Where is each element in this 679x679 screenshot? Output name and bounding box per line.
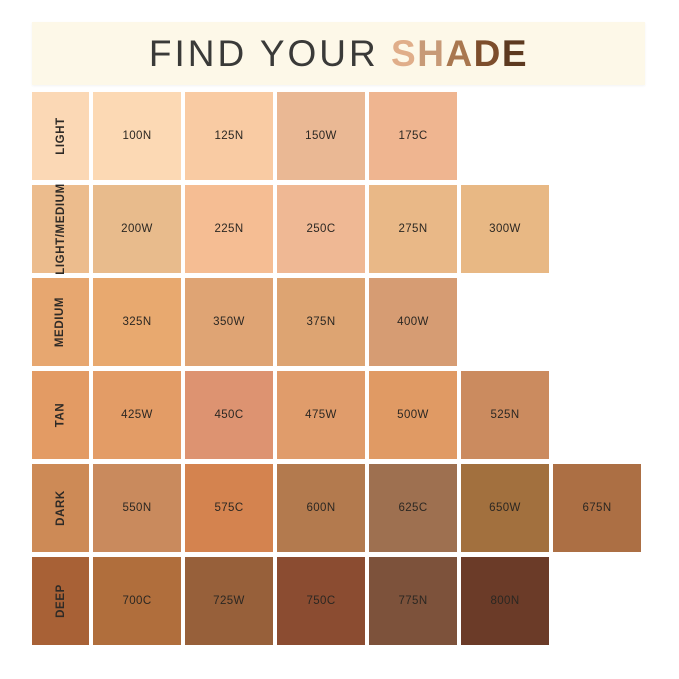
shade-swatch-550N[interactable]: 550N	[93, 464, 181, 552]
shade-row: LIGHT/MEDIUM200W225N250C275N300W	[32, 185, 652, 273]
title-banner: FIND YOUR SHADE	[32, 22, 645, 85]
shade-swatch-350W[interactable]: 350W	[185, 278, 273, 366]
shade-code-label: 675N	[582, 502, 611, 514]
shade-swatch-100N[interactable]: 100N	[93, 92, 181, 180]
shade-code-label: 450C	[214, 409, 243, 421]
shade-swatch-775N[interactable]: 775N	[369, 557, 457, 645]
row-label-text: DEEP	[55, 584, 67, 618]
shade-swatch-750C[interactable]: 750C	[277, 557, 365, 645]
row-label-cell-deep: DEEP	[32, 557, 89, 645]
shade-swatch-200W[interactable]: 200W	[93, 185, 181, 273]
shade-code-label: 525N	[490, 409, 519, 421]
shade-code-label: 650W	[489, 502, 521, 514]
row-label-cell-medium: MEDIUM	[32, 278, 89, 366]
page-title: FIND YOUR SHADE	[149, 35, 528, 72]
shade-swatch-175C[interactable]: 175C	[369, 92, 457, 180]
shade-swatch-525N[interactable]: 525N	[461, 371, 549, 459]
shade-swatch-300W[interactable]: 300W	[461, 185, 549, 273]
row-label-text: TAN	[55, 403, 67, 428]
shade-code-label: 125N	[214, 130, 243, 142]
shade-swatch-450C[interactable]: 450C	[185, 371, 273, 459]
shade-code-label: 350W	[213, 316, 245, 328]
shade-code-label: 225N	[214, 223, 243, 235]
shade-code-label: 575C	[214, 502, 243, 514]
page-title-accent: SHADE	[391, 33, 528, 74]
shade-code-label: 550N	[122, 502, 151, 514]
shade-row: LIGHT100N125N150W175C	[32, 92, 652, 180]
shade-swatch-625C[interactable]: 625C	[369, 464, 457, 552]
shade-chart-root: FIND YOUR SHADE LIGHT100N125N150W175CLIG…	[0, 0, 679, 679]
shade-swatch-675N[interactable]: 675N	[553, 464, 641, 552]
row-label-text: DARK	[55, 490, 67, 526]
row-label-text: LIGHT	[55, 117, 67, 155]
shade-code-label: 775N	[398, 595, 427, 607]
row-label-cell-light: LIGHT	[32, 92, 89, 180]
shade-code-label: 100N	[122, 130, 151, 142]
shade-row: DARK550N575C600N625C650W675N	[32, 464, 652, 552]
shade-code-label: 150W	[305, 130, 337, 142]
shade-code-label: 175C	[398, 130, 427, 142]
shade-code-label: 725W	[213, 595, 245, 607]
row-label-text: LIGHT/MEDIUM	[55, 183, 67, 275]
shade-row: DEEP700C725W750C775N800N	[32, 557, 652, 645]
shade-code-label: 275N	[398, 223, 427, 235]
shade-swatch-150W[interactable]: 150W	[277, 92, 365, 180]
shade-swatch-500W[interactable]: 500W	[369, 371, 457, 459]
shade-code-label: 325N	[122, 316, 151, 328]
shade-grid: LIGHT100N125N150W175CLIGHT/MEDIUM200W225…	[32, 92, 652, 650]
shade-swatch-650W[interactable]: 650W	[461, 464, 549, 552]
shade-row: MEDIUM325N350W375N400W	[32, 278, 652, 366]
shade-swatch-725W[interactable]: 725W	[185, 557, 273, 645]
page-title-accent-letter-4: E	[502, 33, 528, 74]
shade-swatch-250C[interactable]: 250C	[277, 185, 365, 273]
page-title-accent-letter-1: H	[417, 33, 445, 74]
shade-code-label: 300W	[489, 223, 521, 235]
row-label-cell-light-medium: LIGHT/MEDIUM	[32, 185, 89, 273]
shade-swatch-425W[interactable]: 425W	[93, 371, 181, 459]
shade-code-label: 750C	[306, 595, 335, 607]
shade-row: TAN425W450C475W500W525N	[32, 371, 652, 459]
shade-swatch-600N[interactable]: 600N	[277, 464, 365, 552]
shade-code-label: 425W	[121, 409, 153, 421]
shade-swatch-325N[interactable]: 325N	[93, 278, 181, 366]
shade-swatch-375N[interactable]: 375N	[277, 278, 365, 366]
page-title-accent-letter-3: D	[474, 33, 502, 74]
shade-code-label: 800N	[490, 595, 519, 607]
page-title-accent-letter-0: S	[391, 33, 417, 74]
shade-swatch-125N[interactable]: 125N	[185, 92, 273, 180]
shade-code-label: 500W	[397, 409, 429, 421]
shade-code-label: 700C	[122, 595, 151, 607]
shade-code-label: 475W	[305, 409, 337, 421]
row-label-cell-dark: DARK	[32, 464, 89, 552]
shade-code-label: 625C	[398, 502, 427, 514]
row-label-cell-tan: TAN	[32, 371, 89, 459]
page-title-plain: FIND YOUR	[149, 33, 379, 74]
shade-swatch-475W[interactable]: 475W	[277, 371, 365, 459]
shade-code-label: 250C	[306, 223, 335, 235]
shade-swatch-575C[interactable]: 575C	[185, 464, 273, 552]
shade-swatch-800N[interactable]: 800N	[461, 557, 549, 645]
shade-code-label: 600N	[306, 502, 335, 514]
shade-swatch-225N[interactable]: 225N	[185, 185, 273, 273]
row-label-text: MEDIUM	[55, 297, 67, 347]
shade-swatch-700C[interactable]: 700C	[93, 557, 181, 645]
shade-code-label: 400W	[397, 316, 429, 328]
page-title-accent-letter-2: A	[445, 33, 473, 74]
shade-code-label: 200W	[121, 223, 153, 235]
shade-swatch-400W[interactable]: 400W	[369, 278, 457, 366]
shade-swatch-275N[interactable]: 275N	[369, 185, 457, 273]
shade-code-label: 375N	[306, 316, 335, 328]
